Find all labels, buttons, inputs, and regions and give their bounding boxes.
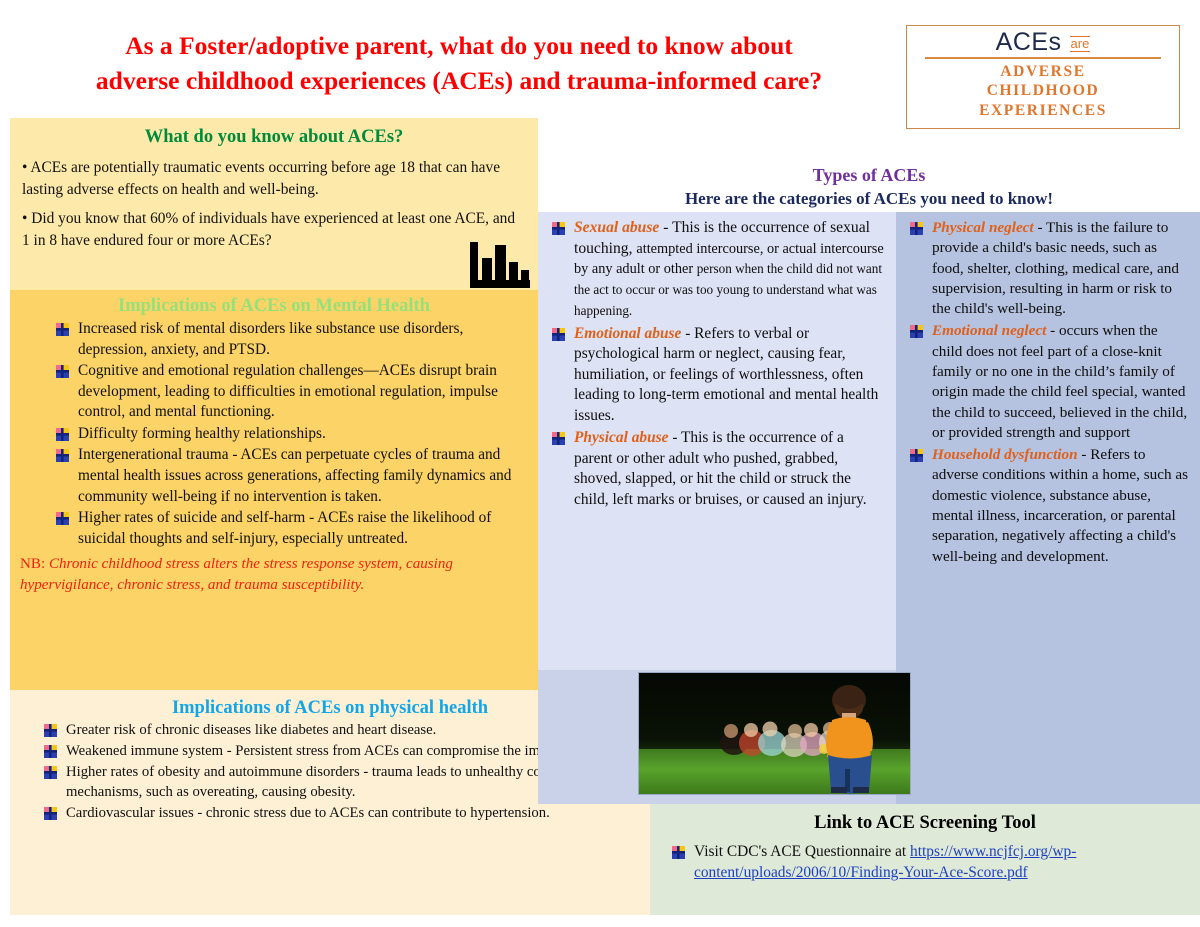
logo-top-row: ACEs are xyxy=(925,30,1161,59)
clover-bullet-icon xyxy=(56,364,69,377)
children-photo xyxy=(638,672,911,795)
note-text: Chronic childhood stress alters the stre… xyxy=(20,556,453,592)
poster-root: As a Foster/adoptive parent, what do you… xyxy=(0,0,1200,927)
logo-line-3: EXPERIENCES xyxy=(907,101,1179,120)
list-item: Difficulty forming healthy relationships… xyxy=(52,424,524,445)
type-term: Household dysfunction xyxy=(932,446,1078,463)
types-of-aces-heading: Types of ACEs xyxy=(538,160,1200,186)
mental-health-heading: Implications of ACEs on Mental Health xyxy=(10,290,538,317)
types-middle-column: Sexual abuse - This is the occurrence of… xyxy=(538,212,896,670)
types-right-column: Physical neglect - This is the failure t… xyxy=(896,212,1200,804)
types-right-list: Physical neglect - This is the failure t… xyxy=(896,212,1200,567)
clover-bullet-icon xyxy=(56,427,69,440)
type-body: - Refers to adverse conditions within a … xyxy=(932,446,1188,564)
what-you-know-panel: What do you know about ACEs? • ACEs are … xyxy=(10,118,538,290)
mental-health-note: NB: Chronic childhood stress alters the … xyxy=(10,550,538,595)
list-item-text: Increased risk of mental disorders like … xyxy=(78,320,463,358)
types-middle-list: Sexual abuse - This is the occurrence of… xyxy=(538,212,896,510)
clover-bullet-icon xyxy=(56,511,69,524)
list-item: Physical abuse - This is the occurrence … xyxy=(548,428,886,510)
ace-screening-link-panel: Link to ACE Screening Tool Visit CDC's A… xyxy=(650,804,1200,915)
what-you-know-body: • ACEs are potentially traumatic events … xyxy=(10,148,538,252)
type-term: Emotional abuse xyxy=(574,325,681,342)
list-item: Emotional neglect - occurs when the chil… xyxy=(906,321,1190,443)
logo-line-2: CHILDHOOD xyxy=(907,81,1179,100)
clover-bullet-icon xyxy=(44,766,57,779)
clover-bullet-icon xyxy=(44,745,57,758)
type-term: Emotional neglect xyxy=(932,322,1046,339)
link-text-prefix: Visit CDC's ACE Questionnaire at xyxy=(694,843,910,860)
list-item: Increased risk of mental disorders like … xyxy=(52,319,524,360)
list-item-text: Difficulty forming healthy relationships… xyxy=(78,425,326,442)
type-term: Physical abuse xyxy=(574,429,668,446)
page-title: As a Foster/adoptive parent, what do you… xyxy=(24,28,894,98)
link-list: Visit CDC's ACE Questionnaire at https:/… xyxy=(650,834,1200,884)
clover-bullet-icon xyxy=(44,724,57,737)
type-term: Physical neglect xyxy=(932,219,1034,236)
know-bullet-1: • Did you know that 60% of individuals h… xyxy=(22,208,524,252)
know-bullet-0: • ACEs are potentially traumatic events … xyxy=(22,157,524,201)
clover-bullet-icon xyxy=(910,221,923,234)
note-label: NB: xyxy=(20,556,45,572)
list-item: Emotional abuse - Refers to verbal or ps… xyxy=(548,324,886,426)
link-panel-heading: Link to ACE Screening Tool xyxy=(650,804,1200,834)
bar-chart-icon xyxy=(468,240,532,290)
list-item: Cognitive and emotional regulation chall… xyxy=(52,361,524,423)
list-item: Visit CDC's ACE Questionnaire at https:/… xyxy=(668,841,1186,884)
list-item: Sexual abuse - This is the occurrence of… xyxy=(548,218,886,322)
list-item: Intergenerational trauma - ACEs can perp… xyxy=(52,445,524,507)
mental-health-panel: Implications of ACEs on Mental Health In… xyxy=(10,290,538,690)
list-item-text: Intergenerational trauma - ACEs can perp… xyxy=(78,446,511,504)
clover-bullet-icon xyxy=(552,327,565,340)
clover-bullet-icon xyxy=(552,221,565,234)
title-line-2: adverse childhood experiences (ACEs) and… xyxy=(24,63,894,98)
logo-aces-text: ACEs xyxy=(996,30,1062,55)
list-item: Physical neglect - This is the failure t… xyxy=(906,218,1190,319)
clover-bullet-icon xyxy=(910,324,923,337)
list-item-text: Cognitive and emotional regulation chall… xyxy=(78,362,498,420)
logo-line-1: ADVERSE xyxy=(907,62,1179,81)
types-of-aces-header: Types of ACEs Here are the categories of… xyxy=(538,160,1200,212)
what-you-know-heading: What do you know about ACEs? xyxy=(10,118,538,148)
list-item-text: Higher rates of suicide and self-harm - … xyxy=(78,509,491,547)
clover-bullet-icon xyxy=(552,431,565,444)
list-item: Cardiovascular issues - chronic stress d… xyxy=(40,804,634,824)
list-item-text: Higher rates of obesity and autoimmune d… xyxy=(66,764,567,800)
types-of-aces-subheading: Here are the categories of ACEs you need… xyxy=(538,186,1200,209)
aces-logo: ACEs are ADVERSE CHILDHOOD EXPERIENCES xyxy=(906,25,1180,129)
clover-bullet-icon xyxy=(56,322,69,335)
clover-bullet-icon xyxy=(672,844,685,857)
list-item-text: Greater risk of chronic diseases like di… xyxy=(66,722,436,738)
list-item: Higher rates of suicide and self-harm - … xyxy=(52,508,524,549)
type-term: Sexual abuse xyxy=(574,219,659,236)
list-item: Household dysfunction - Refers to advers… xyxy=(906,445,1190,567)
type-body: - occurs when the child does not feel pa… xyxy=(932,322,1187,440)
title-line-1: As a Foster/adoptive parent, what do you… xyxy=(24,28,894,63)
mental-health-list: Increased risk of mental disorders like … xyxy=(10,317,538,549)
logo-are-text: are xyxy=(1070,36,1091,52)
clover-bullet-icon xyxy=(44,807,57,820)
clover-bullet-icon xyxy=(56,448,69,461)
clover-bullet-icon xyxy=(910,448,923,461)
list-item-text: Cardiovascular issues - chronic stress d… xyxy=(66,805,550,821)
